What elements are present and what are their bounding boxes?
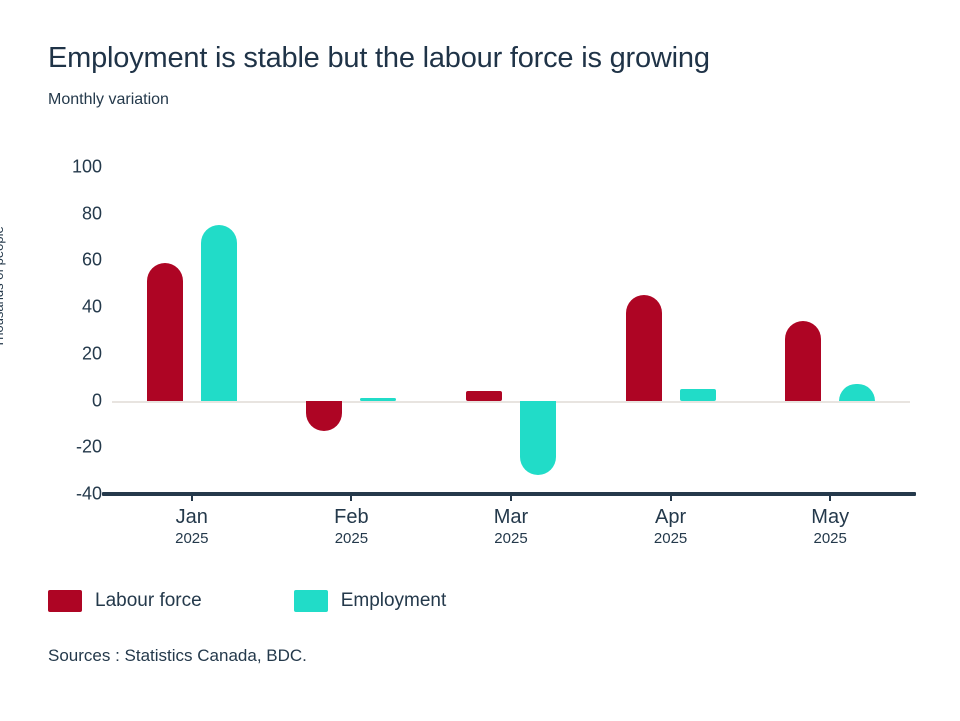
bar-feb-labour-force[interactable]: [306, 401, 342, 431]
x-axis-month: May: [811, 505, 849, 529]
x-axis-tick-mark: [350, 492, 352, 501]
plot-area: 100806040200-20-40: [112, 167, 910, 494]
x-axis-tick-mark: [510, 492, 512, 501]
y-axis-tick-label: 80: [82, 203, 102, 224]
legend-label: Employment: [341, 590, 447, 612]
legend-label: Labour force: [95, 590, 202, 612]
bar-may-labour-force[interactable]: [785, 321, 821, 400]
x-axis-year: 2025: [811, 529, 849, 549]
legend-item-employment[interactable]: Employment: [294, 590, 447, 612]
x-axis-year: 2025: [175, 529, 208, 549]
bar-jan-employment[interactable]: [201, 225, 237, 400]
x-axis-tick-mark: [829, 492, 831, 501]
bar-mar-employment[interactable]: [520, 401, 556, 476]
x-axis-label-may: May2025: [811, 505, 849, 549]
legend-swatch-icon: [294, 590, 328, 612]
chart-legend: Labour forceEmployment: [48, 590, 446, 612]
y-axis-tick-label: -40: [76, 484, 102, 505]
x-axis-month: Mar: [494, 505, 528, 529]
x-axis-month: Jan: [175, 505, 208, 529]
bar-may-employment[interactable]: [839, 384, 875, 400]
x-axis-label-apr: Apr2025: [654, 505, 687, 549]
x-axis-month: Apr: [654, 505, 687, 529]
bar-feb-employment[interactable]: [360, 398, 396, 401]
chart-subtitle: Monthly variation: [48, 91, 169, 109]
y-axis-tick-label: 0: [92, 390, 102, 411]
y-axis-tick-label: 60: [82, 250, 102, 271]
x-axis-year: 2025: [654, 529, 687, 549]
zero-line: [112, 401, 910, 403]
chart-title: Employment is stable but the labour forc…: [48, 42, 710, 75]
bar-apr-labour-force[interactable]: [626, 295, 662, 400]
bar-mar-labour-force[interactable]: [466, 391, 502, 400]
y-axis-tick-label: 100: [72, 157, 102, 178]
x-axis-label-feb: Feb2025: [334, 505, 368, 549]
source-note: Sources : Statistics Canada, BDC.: [48, 646, 307, 666]
x-axis-year: 2025: [334, 529, 368, 549]
chart-figure: Employment is stable but the labour forc…: [0, 0, 960, 721]
bar-jan-labour-force[interactable]: [147, 263, 183, 401]
legend-swatch-icon: [48, 590, 82, 612]
y-axis-title: Thousands of people: [0, 167, 11, 407]
y-axis-tick-label: 20: [82, 343, 102, 364]
x-axis-label-jan: Jan2025: [175, 505, 208, 549]
legend-item-labour-force[interactable]: Labour force: [48, 590, 202, 612]
y-axis-tick-label: 40: [82, 297, 102, 318]
x-axis-year: 2025: [494, 529, 528, 549]
x-axis-tick-mark: [670, 492, 672, 501]
x-axis-tick-mark: [191, 492, 193, 501]
bar-apr-employment[interactable]: [680, 389, 716, 401]
x-axis-month: Feb: [334, 505, 368, 529]
x-axis-label-mar: Mar2025: [494, 505, 528, 549]
y-axis-tick-label: -20: [76, 437, 102, 458]
x-axis-baseline: [102, 492, 916, 496]
